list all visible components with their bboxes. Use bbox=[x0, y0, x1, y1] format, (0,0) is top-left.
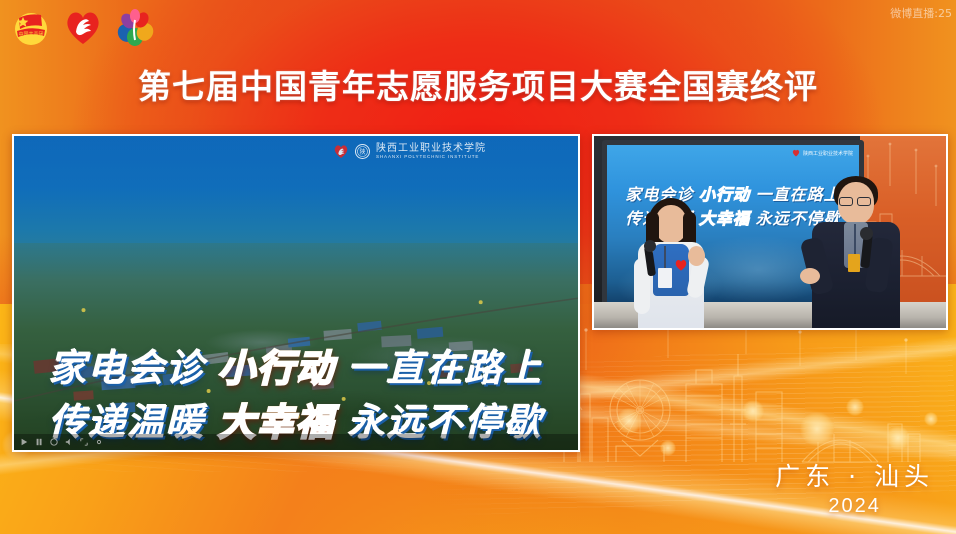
presenter-right-lanyard bbox=[854, 224, 856, 254]
presenter-left-badge bbox=[658, 268, 672, 288]
stop-icon[interactable] bbox=[50, 438, 58, 446]
pause-icon[interactable] bbox=[35, 438, 43, 446]
screen-watermark: 陕西工业职业技术学院 bbox=[792, 149, 853, 157]
settings-gear-icon[interactable] bbox=[95, 438, 103, 446]
main-video-panel[interactable]: 陕 陕西工业职业技术学院 SHAANXI POLYTECHNIC INSTITU… bbox=[12, 134, 580, 452]
presenter-left-hand bbox=[688, 246, 705, 266]
presenter-right bbox=[806, 176, 906, 328]
event-year: 2024 bbox=[775, 495, 934, 518]
live-stream-watermark: 微博直播:25 bbox=[890, 5, 952, 21]
school-watermark-en: SHAANXI POLYTECHNIC INSTITUTE bbox=[376, 155, 486, 160]
presentation-stage: 中国共青团 微博直播:25 第七届中国青年志愿服务项目大赛全国赛终评 bbox=[0, 0, 956, 534]
communist-youth-league-emblem-icon: 中国共青团 bbox=[10, 6, 52, 48]
presenter-left-microphone-head bbox=[644, 240, 656, 252]
presenter-right-microphone-head bbox=[860, 227, 873, 240]
svg-text:中国共青团: 中国共青团 bbox=[18, 31, 43, 38]
school-watermark-cn: 陕西工业职业技术学院 bbox=[376, 144, 486, 155]
presenter-right-glasses bbox=[857, 197, 871, 206]
volunteer-heart-hand-logo-icon bbox=[62, 6, 104, 48]
presenter-left-vest-logo-icon bbox=[674, 258, 688, 272]
slogan1-highlight: 小行动 bbox=[218, 347, 335, 390]
video-slogan-line-1: 家电会诊 小行动 一直在路上 bbox=[14, 338, 578, 392]
heart-hand-watermark-icon bbox=[333, 144, 349, 159]
school-seal-icon: 陕 bbox=[355, 144, 370, 159]
speakers-video-panel[interactable]: 陕西工业职业技术学院 家电会诊 小行动 一直在路上 传递温暖 大幸福 永远不停歇 bbox=[592, 134, 948, 330]
slogan1-part2: 一直在路上 bbox=[348, 347, 543, 390]
school-watermark: 陕 陕西工业职业技术学院 SHAANXI POLYTECHNIC INSTITU… bbox=[333, 144, 486, 159]
presenter-right-glasses bbox=[839, 197, 853, 206]
event-location-block: 广东 · 汕头 2024 bbox=[775, 457, 934, 518]
slogan1-part1: 家电会诊 bbox=[49, 347, 205, 390]
event-location: 广东 · 汕头 bbox=[775, 457, 934, 493]
page-title: 第七届中国青年志愿服务项目大赛全国赛终评 bbox=[0, 60, 956, 108]
presenter-right-hand bbox=[800, 268, 820, 284]
svg-text:陕: 陕 bbox=[359, 148, 365, 156]
screen-watermark-text: 陕西工业职业技术学院 bbox=[803, 150, 853, 157]
heart-hand-watermark-icon bbox=[792, 149, 800, 157]
presenter-left-lanyard bbox=[664, 246, 666, 268]
presenter-left bbox=[628, 198, 714, 328]
colorful-flower-logo-icon bbox=[114, 6, 156, 48]
video-control-bar[interactable] bbox=[14, 434, 578, 450]
presenter-right-badge bbox=[848, 254, 860, 272]
logo-row: 中国共青团 bbox=[10, 6, 156, 48]
fullscreen-icon[interactable] bbox=[80, 438, 88, 446]
play-icon[interactable] bbox=[20, 438, 28, 446]
volume-icon[interactable] bbox=[65, 438, 73, 446]
